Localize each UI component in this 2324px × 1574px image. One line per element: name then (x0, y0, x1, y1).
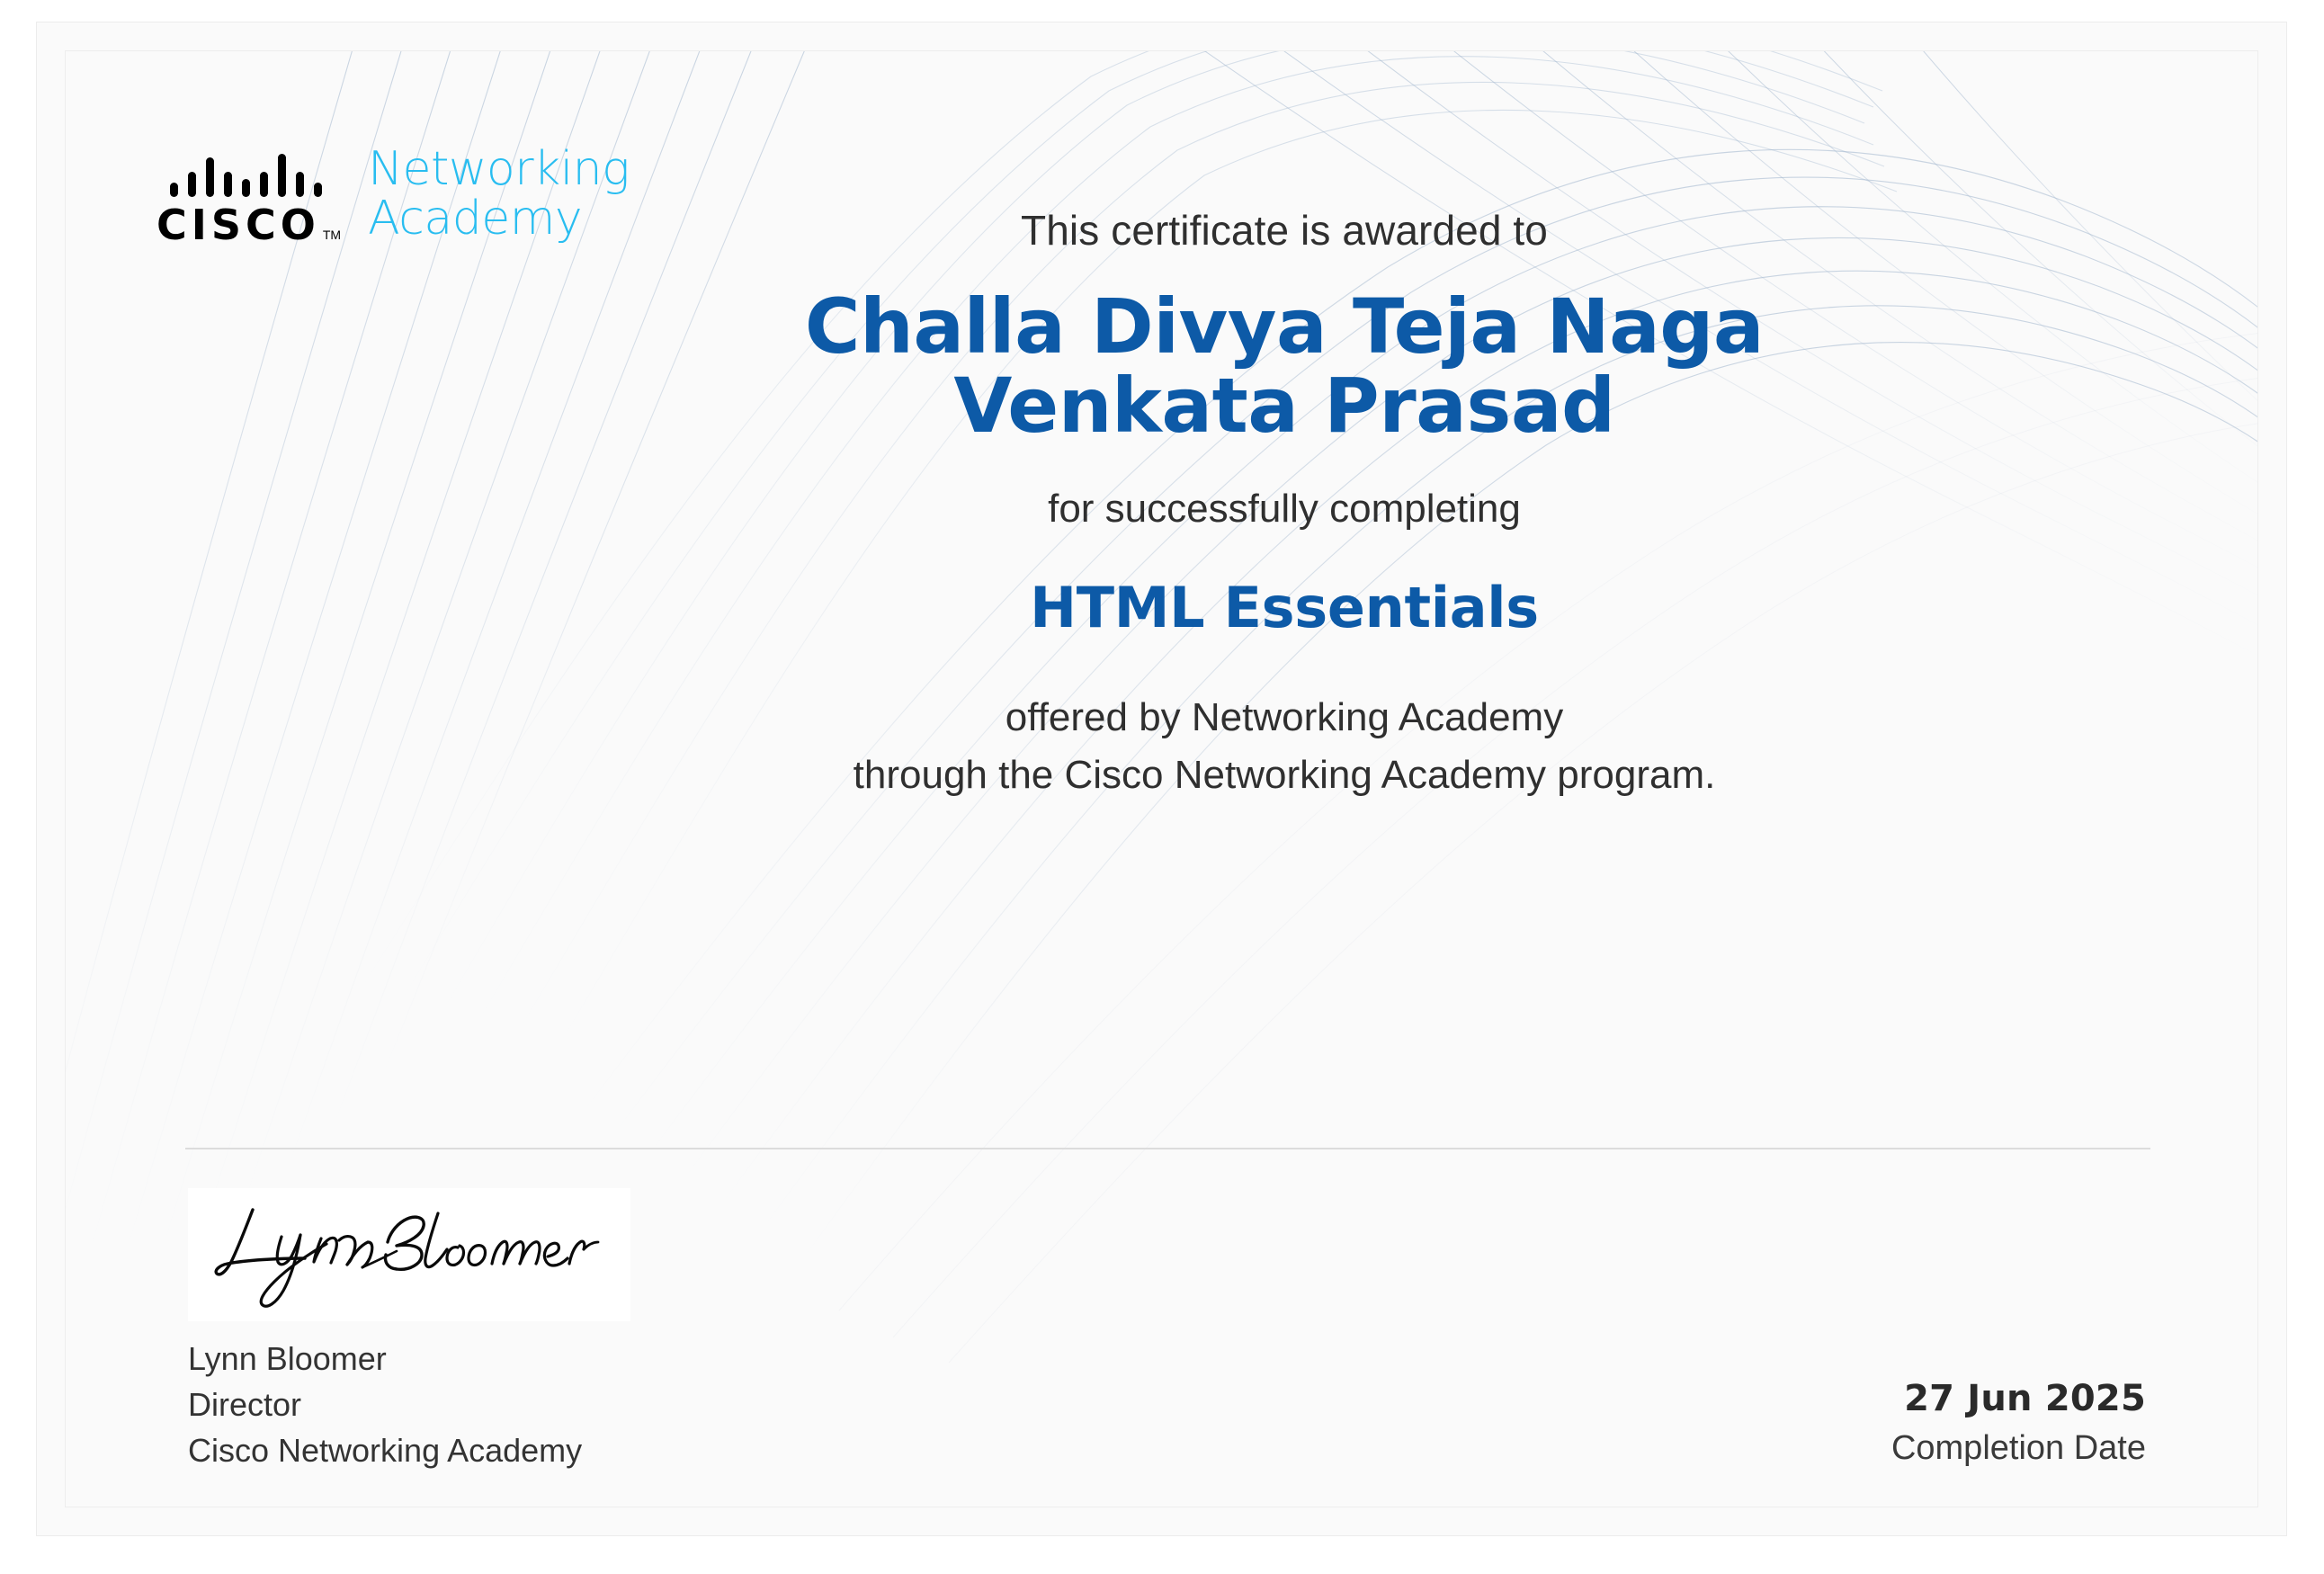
handwritten-signature-icon (195, 1195, 602, 1314)
signatory-organization: Cisco Networking Academy (188, 1427, 630, 1473)
certificate-page: CISCO TM Networking Academy This certifi… (0, 0, 2324, 1574)
completion-date-value: 27 Jun 2025 (1891, 1378, 2146, 1419)
recipient-name-line-2: Venkata Prasad (475, 366, 2094, 445)
cisco-trademark-symbol: TM (323, 228, 341, 242)
signature-block: Lynn Bloomer Director Cisco Networking A… (188, 1188, 630, 1473)
signatory-details: Lynn Bloomer Director Cisco Networking A… (188, 1336, 630, 1473)
signatory-name: Lynn Bloomer (188, 1336, 630, 1382)
cisco-wordmark: CISCO (156, 204, 320, 246)
awarded-to-label: This certificate is awarded to (475, 206, 2094, 255)
completion-date-label: Completion Date (1891, 1429, 2146, 1468)
signature-image (188, 1188, 630, 1321)
offering-line-2: through the Cisco Networking Academy pro… (475, 747, 2094, 804)
recipient-name: Challa Divya Teja Naga Venkata Prasad (475, 287, 2094, 445)
certificate-inner-frame: CISCO TM Networking Academy This certifi… (65, 50, 2258, 1507)
footer-divider (185, 1148, 2150, 1149)
cisco-logo: CISCO TM (156, 145, 341, 246)
course-name: HTML Essentials (475, 575, 2094, 640)
certificate-body: This certificate is awarded to Challa Di… (475, 150, 2094, 804)
completing-label: for successfully completing (475, 487, 2094, 532)
offering-statement: offered by Networking Academy through th… (475, 689, 2094, 804)
offering-line-1: offered by Networking Academy (475, 689, 2094, 747)
signatory-title: Director (188, 1382, 630, 1427)
completion-date-block: 27 Jun 2025 Completion Date (1891, 1378, 2146, 1468)
cisco-bridge-icon (170, 148, 328, 202)
recipient-name-line-1: Challa Divya Teja Naga (475, 287, 2094, 366)
